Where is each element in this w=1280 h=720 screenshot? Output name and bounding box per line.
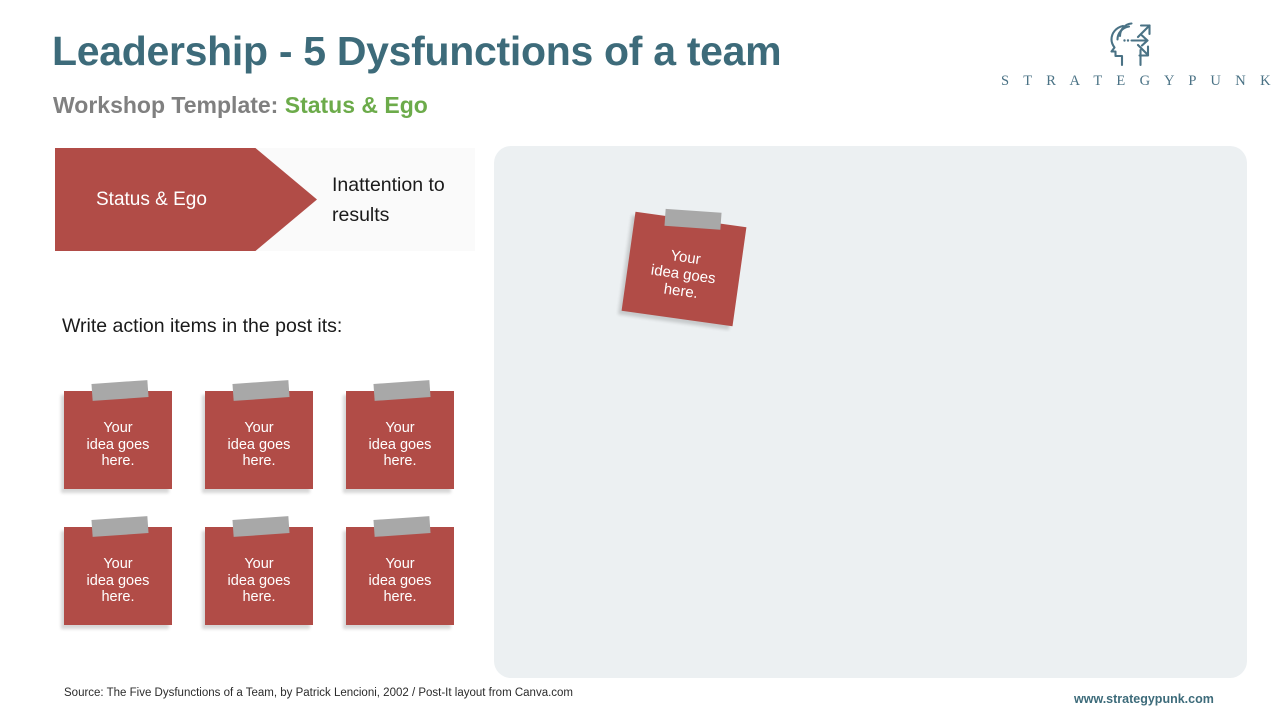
brand-logo: S T R A T E G Y P U N K — [1036, 20, 1236, 98]
postit-note-text: Your idea goes here. — [87, 410, 150, 470]
page-title: Leadership - 5 Dysfunctions of a team — [52, 28, 781, 75]
postit-note[interactable]: Your idea goes here. — [205, 527, 313, 625]
postit-note-text: Your idea goes here. — [369, 410, 432, 470]
subtitle-highlight: Status & Ego — [285, 92, 428, 118]
head-profile-arrows-icon — [1105, 20, 1167, 70]
subtitle-prefix: Workshop Template: — [53, 92, 285, 118]
brand-wordmark: S T R A T E G Y P U N K — [996, 73, 1276, 90]
postit-note-text: Your idea goes here. — [87, 546, 150, 606]
postit-note[interactable]: Your idea goes here. — [346, 527, 454, 625]
tape-icon — [232, 380, 289, 401]
idea-canvas-panel[interactable] — [494, 146, 1247, 678]
stage-banner: Status & Ego Inattention to results — [55, 148, 475, 251]
postit-note-text: Your idea goes here. — [228, 410, 291, 470]
postit-note[interactable]: Your idea goes here. — [64, 527, 172, 625]
postit-note[interactable]: Your idea goes here. — [64, 391, 172, 489]
postit-note-text: Your idea goes here. — [228, 546, 291, 606]
instruction-text: Write action items in the post its: — [62, 315, 342, 338]
page-subtitle: Workshop Template: Status & Ego — [53, 92, 428, 119]
tape-icon — [373, 516, 430, 537]
postit-note[interactable]: Your idea goes here. — [346, 391, 454, 489]
tape-icon — [91, 516, 148, 537]
source-citation: Source: The Five Dysfunctions of a Team,… — [64, 687, 573, 699]
postit-note-text: Your idea goes here. — [648, 234, 721, 303]
postit-note[interactable]: Your idea goes here. — [622, 212, 747, 327]
footer-website-url[interactable]: www.strategypunk.com — [1074, 692, 1214, 706]
current-stage-label: Status & Ego — [55, 189, 207, 211]
current-stage-arrow[interactable]: Status & Ego — [55, 148, 317, 251]
tape-icon — [232, 516, 289, 537]
next-stage-label: Inattention to results — [332, 170, 467, 230]
postit-note[interactable]: Your idea goes here. — [205, 391, 313, 489]
tape-icon — [91, 380, 148, 401]
tape-icon — [373, 380, 430, 401]
postit-note-text: Your idea goes here. — [369, 546, 432, 606]
tape-icon — [664, 209, 721, 230]
